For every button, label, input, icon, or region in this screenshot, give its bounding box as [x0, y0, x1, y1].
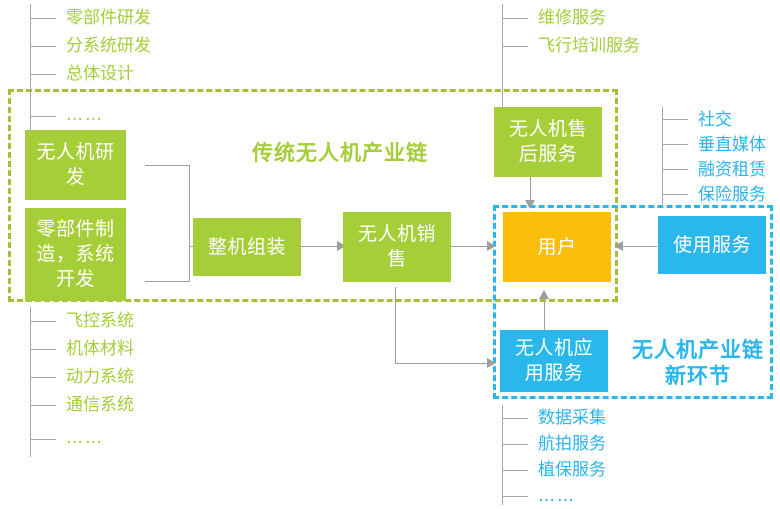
- arrowhead-usage-to-user: [614, 241, 623, 251]
- connector-parts-right: [145, 281, 190, 282]
- callout-tick: [502, 470, 528, 471]
- callout-label: 航拍服务: [538, 433, 606, 455]
- list-item: ……: [30, 419, 134, 449]
- callout-tick: [30, 116, 56, 117]
- callout-label: 飞行培训服务: [538, 35, 640, 57]
- callout-label: 植保服务: [538, 459, 606, 481]
- callout-tick: [30, 74, 56, 75]
- arrowhead-aftersales-to-user: [525, 200, 535, 209]
- list-item: 总体设计: [30, 60, 151, 88]
- callout-app-list: 数据采集 航拍服务 植保服务 ……: [502, 405, 606, 505]
- callout-label: 总体设计: [66, 63, 134, 85]
- callout-parts-list: 飞控系统 机体材料 动力系统 通信系统 ……: [30, 307, 134, 457]
- list-item: 零部件研发: [30, 4, 151, 32]
- connector-assembly-to-sales: [301, 246, 339, 247]
- arrowhead-appservice-to-user: [539, 290, 549, 299]
- list-item: 维修服务: [502, 4, 640, 32]
- callout-label: 机体材料: [66, 338, 134, 360]
- list-item: 保险服务: [662, 182, 766, 207]
- callout-tick: [30, 439, 56, 440]
- list-item: 通信系统: [30, 391, 134, 419]
- list-item: 飞行培训服务: [502, 32, 640, 60]
- node-aftersales[interactable]: 无人机售后服务: [494, 107, 602, 177]
- callout-label: 融资租赁: [698, 159, 766, 181]
- callout-label: 飞控系统: [66, 310, 134, 332]
- callout-label: 动力系统: [66, 366, 134, 388]
- callout-aftersales-list: 维修服务 飞行培训服务: [502, 4, 640, 109]
- node-rnd[interactable]: 无人机研发: [25, 130, 126, 200]
- node-parts-manufacturing[interactable]: 零部件制造，系统开发: [25, 208, 126, 301]
- callout-tick: [662, 119, 688, 120]
- callout-usage-list: 社交 垂直媒体 融资租赁 保险服务: [662, 107, 766, 207]
- callout-label: ……: [66, 427, 104, 449]
- callout-label: ……: [66, 104, 104, 126]
- callout-tick: [30, 46, 56, 47]
- callout-tick: [662, 169, 688, 170]
- callout-label: 零部件研发: [66, 7, 151, 29]
- callout-tick: [502, 18, 528, 19]
- callout-tick: [30, 377, 56, 378]
- list-item: 植保服务: [502, 457, 606, 483]
- callout-tick: [30, 18, 56, 19]
- list-item: 数据采集: [502, 405, 606, 431]
- node-usage-service[interactable]: 使用服务: [658, 216, 766, 274]
- callout-label: ……: [538, 485, 576, 507]
- node-assembly[interactable]: 整机组装: [193, 218, 301, 276]
- list-item: ……: [502, 483, 606, 509]
- new-chain-title: 无人机产业链新环节: [628, 337, 768, 389]
- callout-tick: [502, 418, 528, 419]
- connector-sales-to-user: [451, 246, 489, 247]
- callout-label: 社交: [698, 109, 732, 131]
- callout-tick: [30, 405, 56, 406]
- callout-label: 数据采集: [538, 407, 606, 429]
- list-item: 飞控系统: [30, 307, 134, 335]
- connector-merge-spine: [189, 165, 190, 282]
- connector-usageservice-to-user: [622, 246, 657, 247]
- callout-label: 分系统研发: [66, 35, 151, 57]
- callout-label: 通信系统: [66, 394, 134, 416]
- callout-label: 保险服务: [698, 184, 766, 206]
- list-item: 机体材料: [30, 335, 134, 363]
- list-item: 分系统研发: [30, 32, 151, 60]
- list-item: ……: [30, 88, 151, 128]
- callout-tick: [30, 349, 56, 350]
- connector-rnd-right: [145, 165, 190, 166]
- callout-tick: [662, 144, 688, 145]
- node-sales[interactable]: 无人机销售: [343, 212, 451, 282]
- node-app-service[interactable]: 无人机应用服务: [500, 330, 608, 392]
- callout-tick: [502, 496, 528, 497]
- arrowhead-to-user: [487, 241, 496, 251]
- list-item: 垂直媒体: [662, 132, 766, 157]
- traditional-chain-title: 传统无人机产业链: [210, 140, 470, 166]
- callout-rnd-list: 零部件研发 分系统研发 总体设计 ……: [30, 4, 151, 132]
- callout-label: 垂直媒体: [698, 134, 766, 156]
- callout-label: 维修服务: [538, 7, 606, 29]
- connector-sales-to-appservice: [395, 363, 489, 364]
- callout-tick: [502, 46, 528, 47]
- industry-chain-diagram: 传统无人机产业链 无人机产业链新环节 无人机研发 零部件制造，系统开发 整机组装…: [0, 0, 780, 509]
- callout-tick: [662, 194, 688, 195]
- callout-tick: [502, 444, 528, 445]
- list-item: 融资租赁: [662, 157, 766, 182]
- connector-sales-down: [395, 287, 396, 364]
- list-item: 动力系统: [30, 363, 134, 391]
- list-item: 社交: [662, 107, 766, 132]
- node-user[interactable]: 用户: [503, 212, 611, 282]
- arrowhead-to-appservice: [487, 358, 496, 368]
- list-item: 航拍服务: [502, 431, 606, 457]
- callout-tick: [30, 321, 56, 322]
